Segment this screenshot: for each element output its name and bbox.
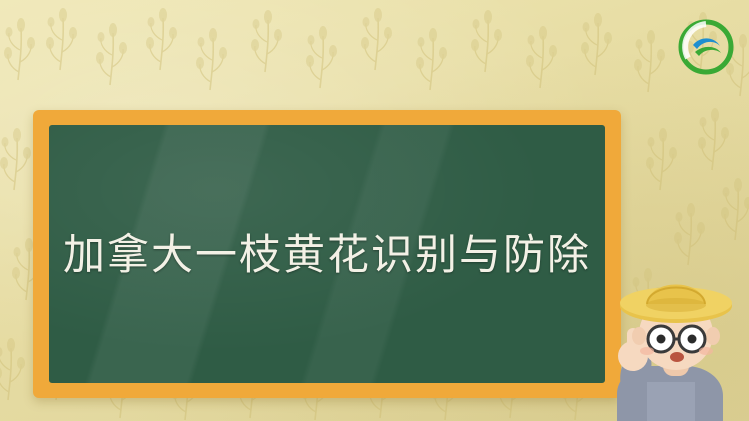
chalkboard-frame: 加拿大一枝黄花识别与防除 (33, 110, 621, 398)
chalkboard-surface: 加拿大一枝黄花识别与防除 (49, 125, 605, 383)
circular-green-swirl-logo (677, 18, 735, 76)
cartoon-teacher-with-straw-hat (573, 256, 741, 421)
page-title: 加拿大一枝黄花识别与防除 (49, 221, 605, 282)
title-card-scene: 加拿大一枝黄花识别与防除 (0, 0, 749, 421)
